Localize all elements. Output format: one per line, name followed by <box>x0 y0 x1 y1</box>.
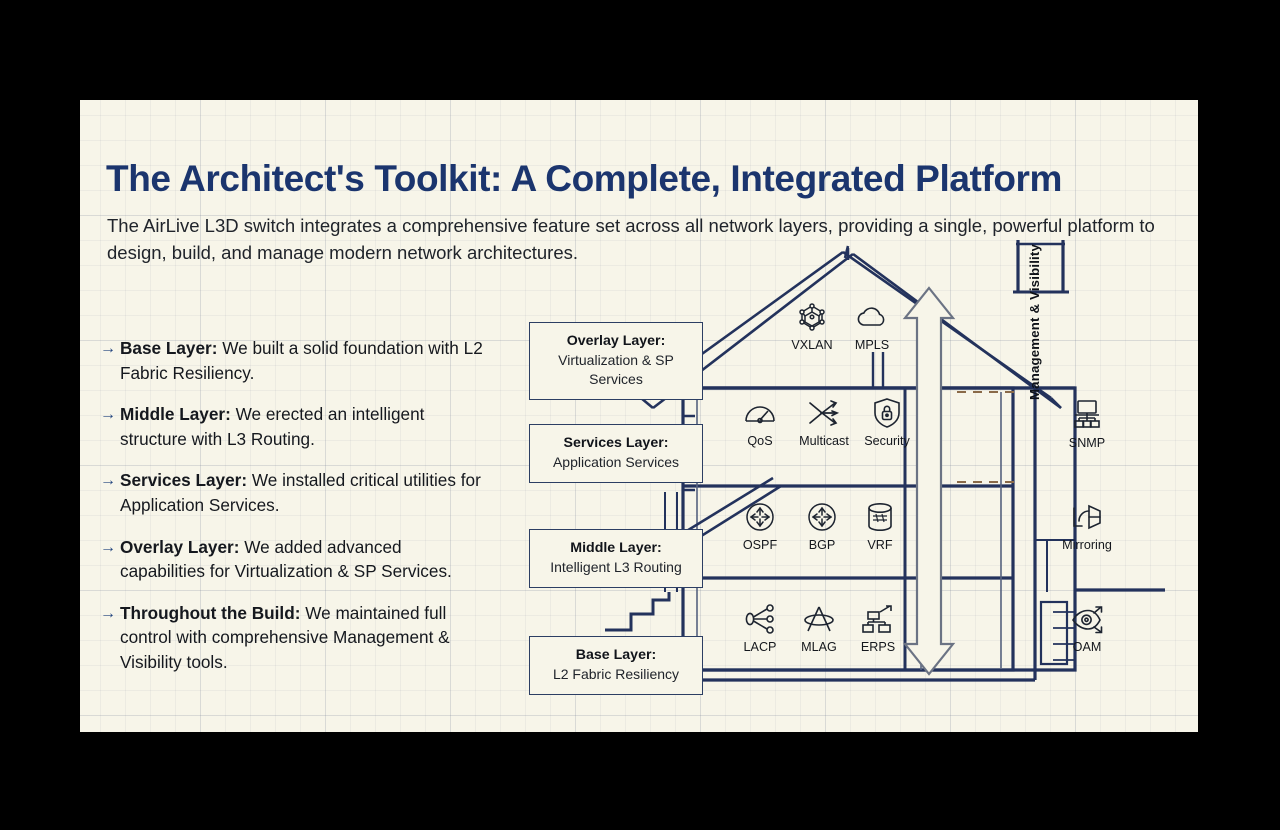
shield-lock-icon <box>846 396 928 430</box>
list-item: → Base Layer: We built a solid foundatio… <box>100 336 490 385</box>
management-visibility-label: Management & Visibility <box>1027 244 1042 400</box>
feature-label: MLAG <box>787 640 851 654</box>
feature-vxlan: VXLAN <box>780 300 844 352</box>
arrow-right-icon: → <box>100 336 120 385</box>
layer-label-title: Middle Layer: <box>534 539 698 558</box>
list-item-lead: Throughout the Build: <box>120 603 300 623</box>
feature-erps: ERPS <box>846 602 910 654</box>
feature-bgp: BGP <box>790 500 854 552</box>
share-nodes-icon <box>728 602 792 636</box>
feature-vrf: VRF <box>848 500 912 552</box>
layer-label-subtitle: L2 Fabric Resiliency <box>534 665 698 684</box>
layer-label-subtitle: Intelligent L3 Routing <box>534 558 698 577</box>
list-item: → Middle Layer: We erected an intelligen… <box>100 402 490 451</box>
layer-label-middle: Middle Layer: Intelligent L3 Routing <box>529 529 703 588</box>
triangle-ring-icon <box>787 602 851 636</box>
cloud-icon <box>840 300 904 334</box>
layer-label-title: Overlay Layer: <box>534 332 698 351</box>
list-item: → Throughout the Build: We maintained fu… <box>100 601 490 675</box>
feature-label: ERPS <box>846 640 910 654</box>
arrow-right-icon: → <box>100 468 120 517</box>
arrow-right-icon: → <box>100 402 120 451</box>
list-item-lead: Services Layer: <box>120 470 247 490</box>
feature-label: VXLAN <box>780 338 844 352</box>
feature-label: VRF <box>848 538 912 552</box>
arrow-right-icon: → <box>100 601 120 675</box>
layer-label-services: Services Layer: Application Services <box>529 424 703 483</box>
feature-label: MPLS <box>840 338 904 352</box>
feature-label: Mirroring <box>1046 538 1128 552</box>
layer-label-subtitle: Application Services <box>534 453 698 472</box>
feature-lacp: LACP <box>728 602 792 654</box>
slide-stage: The Architect's Toolkit: A Complete, Int… <box>0 0 1280 830</box>
feature-label: Security <box>846 434 928 448</box>
router-icon <box>790 500 854 534</box>
feature-oam: OAM <box>1055 602 1119 654</box>
monitor-network-icon <box>1055 398 1119 432</box>
feature-snmp: SNMP <box>1055 398 1119 450</box>
layer-label-title: Base Layer: <box>534 646 698 665</box>
list-item: → Overlay Layer: We added advanced capab… <box>100 535 490 584</box>
management-visibility-arrow <box>905 288 953 674</box>
arrow-right-icon: → <box>100 535 120 584</box>
feature-ospf: OSPF <box>728 500 792 552</box>
layer-label-subtitle: Virtualization & SP Services <box>534 351 698 389</box>
slide-canvas: The Architect's Toolkit: A Complete, Int… <box>80 100 1198 732</box>
cube-network-icon <box>780 300 844 334</box>
eye-scan-icon <box>1055 602 1119 636</box>
feature-label: OSPF <box>728 538 792 552</box>
layer-label-base: Base Layer: L2 Fabric Resiliency <box>529 636 703 695</box>
database-icon <box>848 500 912 534</box>
list-item: → Services Layer: We installed critical … <box>100 468 490 517</box>
page-title: The Architect's Toolkit: A Complete, Int… <box>106 158 1166 200</box>
feature-mpls: MPLS <box>840 300 904 352</box>
layer-label-title: Services Layer: <box>534 434 698 453</box>
list-item-lead: Middle Layer: <box>120 404 231 424</box>
feature-label: OAM <box>1055 640 1119 654</box>
layer-label-overlay: Overlay Layer: Virtualization & SP Servi… <box>529 322 703 400</box>
feature-mirroring: Mirroring <box>1046 500 1128 552</box>
key-points-list: → Base Layer: We built a solid foundatio… <box>100 336 490 692</box>
sitemap-arrow-icon <box>846 602 910 636</box>
feature-mlag: MLAG <box>787 602 851 654</box>
list-item-lead: Base Layer: <box>120 338 217 358</box>
feature-label: SNMP <box>1055 436 1119 450</box>
feature-label: BGP <box>790 538 854 552</box>
mirror-split-icon <box>1046 500 1128 534</box>
list-item-lead: Overlay Layer: <box>120 537 239 557</box>
router-icon <box>728 500 792 534</box>
feature-security: Security <box>846 396 928 448</box>
feature-label: LACP <box>728 640 792 654</box>
